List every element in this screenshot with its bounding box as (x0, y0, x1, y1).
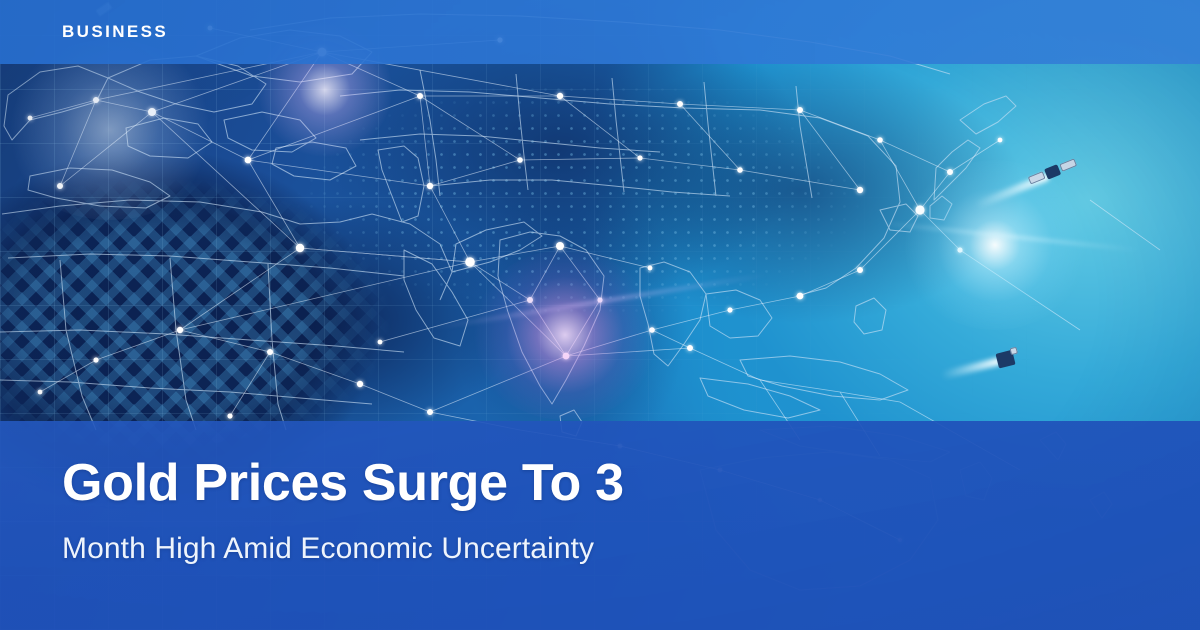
headline-band: Gold Prices Surge To 3 Month High Amid E… (0, 421, 1200, 630)
category-label: BUSINESS (62, 22, 168, 42)
category-band: BUSINESS (0, 0, 1200, 64)
social-card: BUSINESS Gold Prices Surge To 3 Month Hi… (0, 0, 1200, 630)
page-title: Gold Prices Surge To 3 (62, 457, 702, 509)
page-subtitle: Month High Amid Economic Uncertainty (62, 531, 1140, 567)
